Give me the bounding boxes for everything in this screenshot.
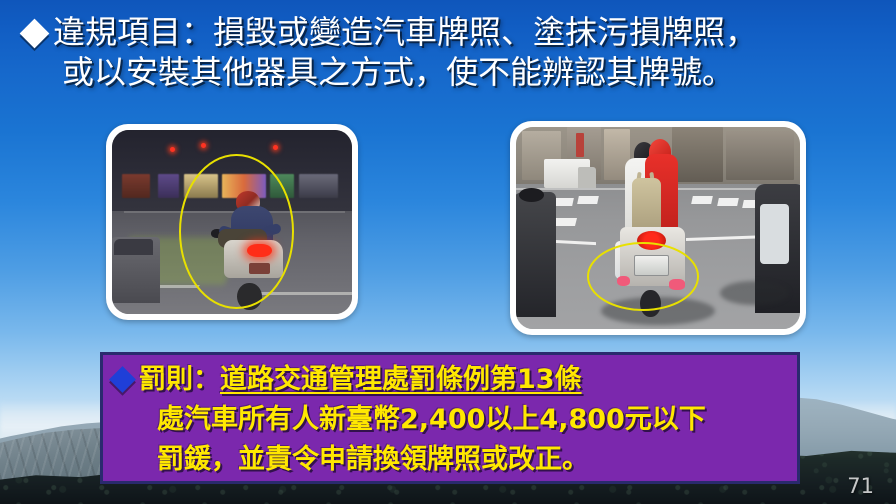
left-scooter — [516, 192, 556, 317]
page-number: 71 — [847, 474, 874, 498]
photo-left-frame — [106, 124, 358, 320]
photo-left-image — [112, 130, 352, 314]
diamond-bullet-icon — [20, 19, 50, 49]
slide-title: 違規項目：損毀或變造汽車牌照、塗抹污損牌照， 或以安裝其他器具之方式，使不能辨認… — [24, 12, 876, 92]
penalty-law-reference: 道路交通管理處罰條例第13條 — [220, 364, 582, 395]
traffic-light-3 — [273, 145, 278, 150]
traffic-light-1 — [170, 147, 175, 152]
title-line-1: 違規項目：損毀或變造汽車牌照、塗抹污損牌照， — [24, 12, 876, 52]
storefront-2 — [158, 174, 180, 198]
photo-right-frame — [510, 121, 806, 335]
zebra-stripe-3 — [578, 196, 600, 204]
slide-canvas: 違規項目：損毀或變造汽車牌照、塗抹污損牌照， 或以安裝其他器具之方式，使不能辨認… — [0, 0, 896, 504]
zebra-stripe-5 — [717, 198, 739, 206]
penalty-line-2: 處汽車所有人新臺幣2,400以上4,800元以下 — [111, 400, 791, 440]
storefront-1 — [122, 174, 151, 198]
car-window — [114, 239, 152, 256]
shop-sign-red — [576, 133, 585, 157]
penalty-line-1: 罰則：道路交通管理處罰條例第13條 — [111, 360, 791, 400]
truck-cab — [578, 167, 595, 187]
storefront-6 — [299, 174, 337, 198]
yellow-ellipse-annotation-right — [587, 242, 699, 311]
backpack — [632, 178, 661, 234]
left-scooter-mirror — [519, 188, 545, 202]
right-rider-leg — [760, 204, 788, 265]
penalty-line-3-text: 罰鍰，並責令申請換領牌照或改正。 — [157, 444, 589, 475]
pedestrian-shadow — [720, 281, 788, 305]
diamond-bullet-blue-icon — [109, 366, 136, 393]
traffic-light-2 — [201, 143, 206, 148]
title-line-2-text: 或以安裝其他器具之方式，使不能辨認其牌號。 — [62, 53, 734, 91]
title-line-2: 或以安裝其他器具之方式，使不能辨認其牌號。 — [24, 52, 876, 92]
penalty-line-2-text: 處汽車所有人新臺幣2,400以上4,800元以下 — [157, 404, 706, 435]
penalty-callout-box: 罰則：道路交通管理處罰條例第13條 處汽車所有人新臺幣2,400以上4,800元… — [100, 352, 800, 484]
photo-right-image — [516, 127, 800, 329]
yellow-ellipse-annotation — [179, 154, 293, 309]
penalty-line-1-prefix: 罰則： — [139, 364, 220, 395]
penalty-line-3: 罰鍰，並責令申請換領牌照或改正。 — [111, 440, 791, 480]
building-5 — [726, 131, 794, 179]
title-line-1-text: 違規項目：損毀或變造汽車牌照、塗抹污損牌照， — [53, 13, 757, 51]
